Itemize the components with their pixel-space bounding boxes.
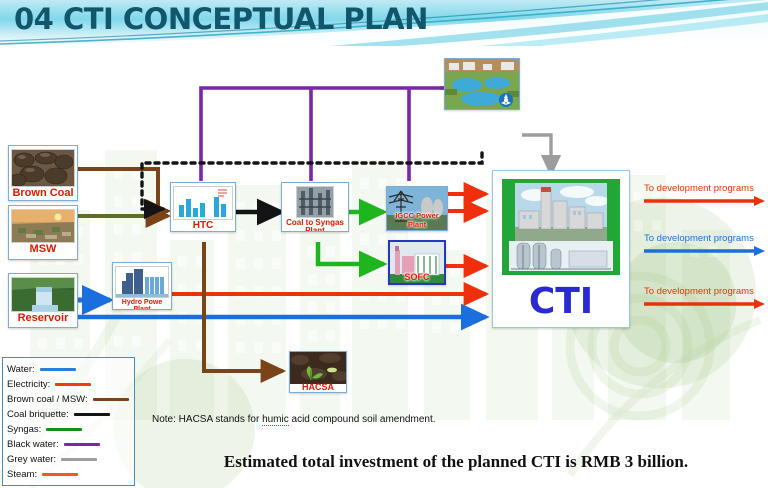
node-brown-coal[interactable]: Brown Coal: [8, 145, 78, 201]
node-label: HTC: [171, 221, 235, 232]
industry-photo-icon: [515, 183, 607, 241]
legend-swatch: [55, 383, 91, 386]
gasifier-photo-icon: [296, 186, 334, 218]
note-underlined: humic: [262, 414, 289, 426]
water-treatment-photo-icon: [445, 59, 519, 109]
node-label: SOFC: [390, 272, 444, 282]
hydro-plant-photo-icon: [115, 266, 169, 298]
legend-swatch: [42, 473, 78, 476]
industry-photo-icon-2: [509, 241, 613, 271]
node-htc[interactable]: HTC: [170, 182, 236, 232]
node-msw[interactable]: MSW: [8, 205, 78, 260]
legend-swatch: [61, 458, 97, 461]
legend-item: Electricity:: [7, 377, 134, 392]
output-label: To development programs: [644, 183, 766, 194]
node-label: Brown Coal: [9, 188, 77, 200]
node-reservoir[interactable]: Reservoir: [8, 273, 78, 328]
legend-item: Black water:: [7, 437, 134, 452]
dam-photo-icon: [11, 277, 75, 312]
note-prefix: Note: HACSA stands for: [152, 414, 262, 425]
cti-label: CTI: [493, 279, 629, 325]
arrow-right-icon: [644, 298, 766, 310]
arrow-right-icon: [644, 245, 766, 257]
output-label: To development programs: [644, 233, 766, 244]
node-bwt-gwr[interactable]: BWT & GWR: [444, 58, 520, 110]
legend-item: Water:: [7, 362, 134, 377]
hacsa-note: Note: HACSA stands for humic acid compou…: [152, 414, 436, 425]
legend-label: Brown coal / MSW:: [7, 394, 88, 405]
output-program-3: To development programs: [644, 286, 766, 315]
seedling-photo-icon: [290, 352, 346, 384]
legend-item: Grey water:: [7, 452, 134, 467]
node-label: MSW: [9, 244, 77, 256]
slide-canvas: 04 CTI CONCEPTUAL PLAN: [0, 0, 768, 488]
cti-green-panel: [502, 179, 620, 275]
legend-label: Grey water:: [7, 454, 56, 465]
node-label: Reservoir: [9, 313, 77, 325]
legend-label: Syngas:: [7, 424, 41, 435]
legend-swatch: [93, 398, 129, 401]
legend-label: Electricity:: [7, 379, 50, 390]
arrow-right-icon: [644, 195, 766, 207]
node-label: HACSA: [290, 383, 346, 392]
node-label: Hydro Powe Plant: [113, 299, 171, 310]
legend-item: Brown coal / MSW:: [7, 392, 134, 407]
node-cti[interactable]: CTI: [492, 170, 630, 328]
legend-label: Coal briquette:: [7, 409, 69, 420]
page-title: 04 CTI CONCEPTUAL PLAN: [14, 2, 428, 36]
note-suffix: acid compound soil amendment.: [289, 414, 436, 425]
legend-item: Steam:: [7, 467, 134, 482]
output-program-1: To development programs: [644, 183, 766, 212]
legend-swatch: [40, 368, 76, 371]
node-hydro-power-plant[interactable]: Hydro Powe Plant: [112, 262, 172, 310]
legend-swatch: [64, 443, 100, 446]
legend-item: Coal briquette:: [7, 407, 134, 422]
node-hacsa[interactable]: HACSA: [289, 351, 347, 393]
output-program-2: To development programs: [644, 233, 766, 262]
legend-swatch: [74, 413, 110, 416]
legend-label: Steam:: [7, 469, 37, 480]
node-coal-to-syngas-plant[interactable]: Coal to Syngas Plant: [281, 182, 349, 232]
coal-photo-icon: [11, 149, 75, 187]
output-label: To development programs: [644, 286, 766, 297]
investment-summary: Estimated total investment of the planne…: [150, 452, 762, 472]
node-igcc-power-plant[interactable]: IGCC Power Plant: [386, 186, 448, 231]
legend-swatch: [46, 428, 82, 431]
legend-item: Syngas:: [7, 422, 134, 437]
legend-label: Black water:: [7, 439, 59, 450]
node-label: IGCC Power Plant: [387, 211, 447, 229]
landfill-photo-icon: [11, 209, 75, 243]
legend-panel: Water: Electricity: Brown coal / MSW: Co…: [2, 357, 135, 486]
node-sofc[interactable]: SOFC: [388, 240, 446, 285]
htc-chart-photo-icon: [173, 186, 233, 220]
legend-label: Water:: [7, 364, 35, 375]
node-label: Coal to Syngas Plant: [282, 219, 348, 232]
